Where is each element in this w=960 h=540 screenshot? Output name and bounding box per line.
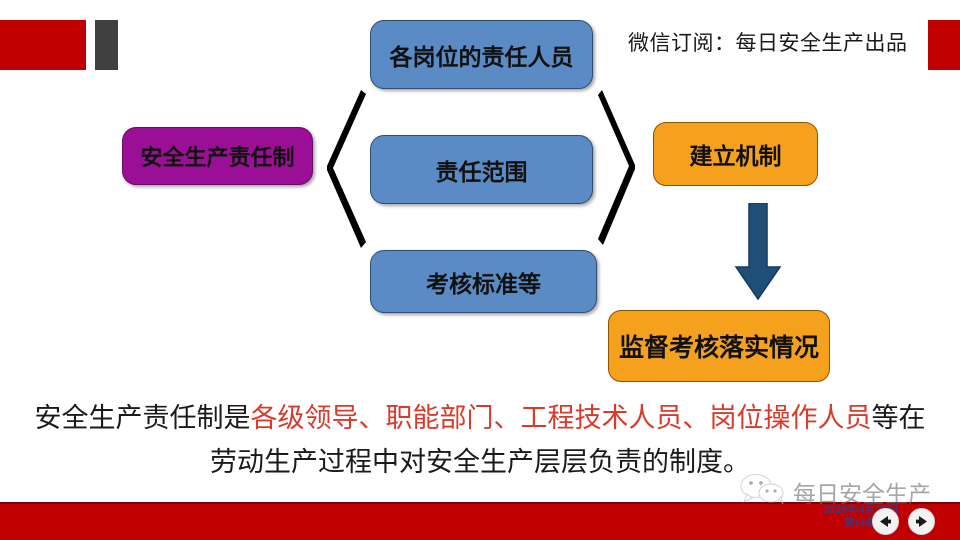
arrow-left-icon bbox=[878, 514, 893, 529]
watermark-issue-date: 2020年4月26日 第69期 bbox=[806, 504, 916, 530]
previous-slide-button[interactable] bbox=[872, 508, 899, 535]
wechat-logo-icon bbox=[740, 473, 786, 510]
decor-block-red-left bbox=[0, 20, 86, 70]
header-caption: 微信订阅：每日安全生产出品 bbox=[628, 27, 908, 57]
decor-block-red-right bbox=[928, 20, 960, 70]
slide-canvas: 微信订阅：每日安全生产出品 安全生产责任制 各岗位的责任人员 责任范围 考核标准… bbox=[0, 0, 960, 540]
watermark-issue-line: 第69期 bbox=[806, 517, 916, 530]
watermark-date-line: 2020年4月26日 bbox=[806, 504, 916, 517]
next-slide-button[interactable] bbox=[908, 508, 935, 535]
left-brace-icon bbox=[325, 90, 367, 248]
arrow-right-icon bbox=[914, 514, 929, 529]
body-paragraph: 安全生产责任制是各级领导、职能部门、工程技术人员、岗位操作人员等在劳动生产过程中… bbox=[34, 396, 926, 484]
node-branch-assessment-criteria: 考核标准等 bbox=[370, 250, 597, 313]
node-establish-mechanism: 建立机制 bbox=[653, 122, 818, 186]
node-branch-positions-responsible-persons: 各岗位的责任人员 bbox=[370, 20, 593, 89]
node-supervise-assessment-implementation: 监督考核落实情况 bbox=[608, 310, 830, 382]
node-safety-responsibility-system: 安全生产责任制 bbox=[122, 127, 313, 185]
body-segment-highlight: 各级领导、职能部门、工程技术人员、岗位操作人员 bbox=[251, 403, 872, 433]
down-arrow-icon bbox=[728, 203, 788, 308]
body-segment-leading: 安全生产责任制是 bbox=[35, 403, 251, 433]
decor-block-gray bbox=[95, 20, 118, 70]
right-brace-icon bbox=[598, 90, 638, 245]
node-branch-responsibility-scope: 责任范围 bbox=[370, 135, 593, 204]
